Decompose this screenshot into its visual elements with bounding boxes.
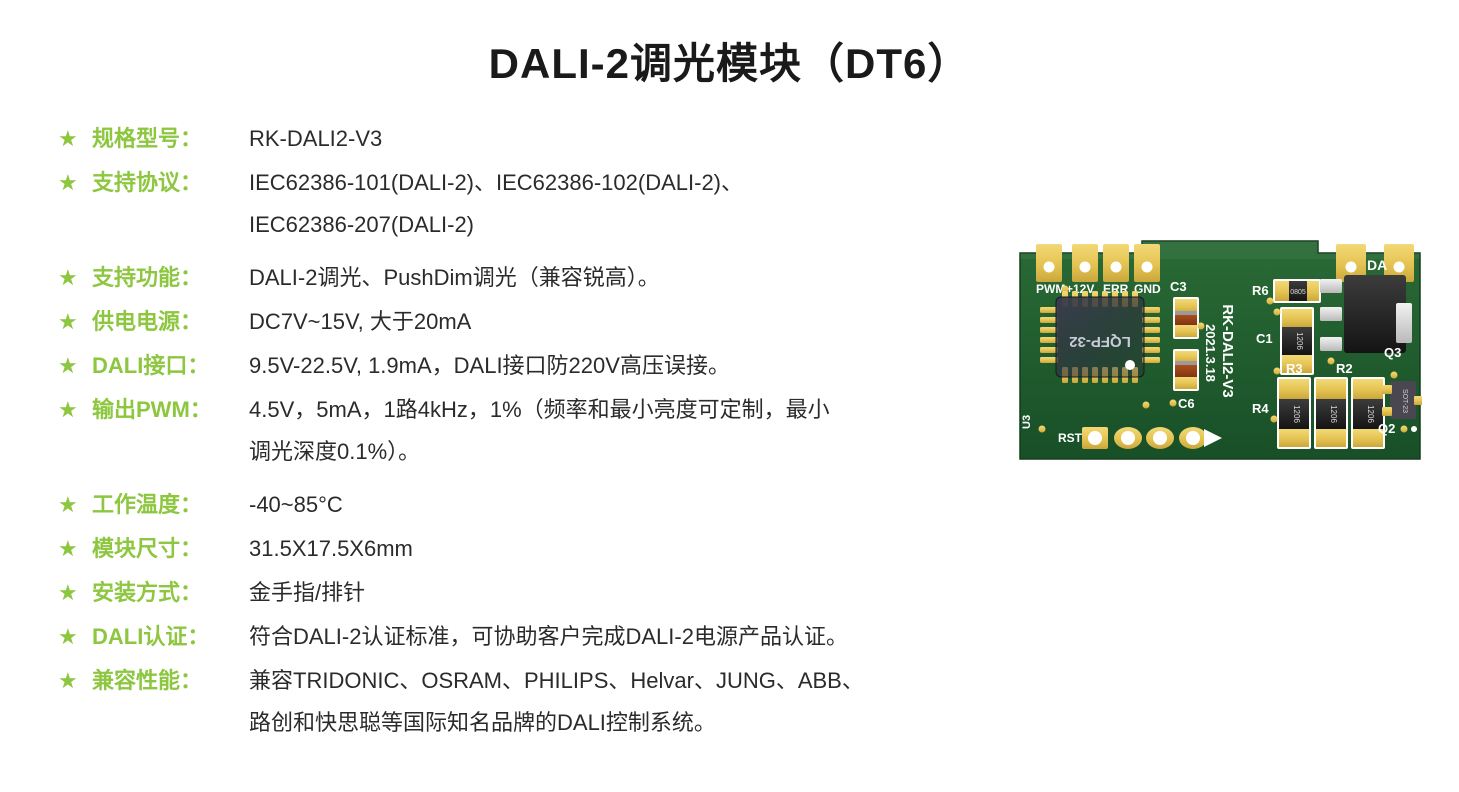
- via: [1143, 402, 1150, 409]
- pcb-silkscreen-part-number: RK-DALI2-V3: [1219, 304, 1236, 397]
- pcb-designator-q2: Q2: [1378, 421, 1395, 436]
- pcb-designator-r4: R4: [1252, 401, 1269, 416]
- via: [1274, 368, 1281, 375]
- spec-row: ★ DALI认证： 符合DALI-2认证标准，可协助客户完成DALI-2电源产品…: [55, 620, 955, 654]
- spec-value: 兼容TRIDONIC、OSRAM、PHILIPS、Helvar、JUNG、ABB…: [249, 664, 955, 740]
- pcb-designator-u3: U3: [1021, 415, 1033, 429]
- via: [1328, 358, 1335, 365]
- spec-label: 模块尺寸：: [92, 532, 249, 566]
- spec-label: 规格型号：: [92, 122, 249, 156]
- star-bullet-icon: ★: [55, 488, 92, 522]
- spec-value-line: DC7V~15V, 大于20mA: [249, 305, 955, 339]
- star-bullet-icon: ★: [55, 620, 92, 654]
- spec-value: 31.5X17.5X6mm: [249, 532, 955, 566]
- via: [1271, 416, 1278, 423]
- pcb-pad-label-pwm: PWM: [1036, 282, 1065, 296]
- spec-label: DALI认证：: [92, 620, 249, 654]
- via: [1267, 298, 1274, 305]
- star-bullet-icon: ★: [55, 122, 92, 156]
- pcb-pad-label-da: DA: [1367, 257, 1387, 273]
- via: [1401, 426, 1408, 433]
- spec-value-line: 符合DALI-2认证标准，可协助客户完成DALI-2电源产品认证。: [249, 620, 955, 654]
- spec-value-line: 9.5V-22.5V, 1.9mA，DALI接口防220V高压误接。: [249, 349, 955, 383]
- spec-row: ★ 安装方式： 金手指/排针: [55, 576, 955, 610]
- pcb-component-r3: 1206: [1314, 377, 1348, 449]
- spec-value-line: 4.5V，5mA，1路4kHz，1%（频率和最小亮度可定制，最小: [249, 393, 955, 427]
- spec-value: DC7V~15V, 大于20mA: [249, 305, 955, 339]
- pcb-designator-rst: RST: [1058, 431, 1083, 445]
- spec-row: ★ 输出PWM： 4.5V，5mA，1路4kHz，1%（频率和最小亮度可定制，最…: [55, 393, 955, 469]
- spec-row: ★ DALI接口： 9.5V-22.5V, 1.9mA，DALI接口防220V高…: [55, 349, 955, 383]
- spec-value-line: IEC62386-207(DALI-2): [249, 208, 955, 242]
- pcb-component-q3: [1344, 275, 1412, 353]
- spec-value: DALI-2调光、PushDim调光（兼容锐高）。: [249, 261, 955, 295]
- spec-row: ★ 供电电源： DC7V~15V, 大于20mA: [55, 305, 955, 339]
- pcb-chip-marking: LQFP-32: [1069, 333, 1131, 350]
- spec-value: 9.5V-22.5V, 1.9mA，DALI接口防220V高压误接。: [249, 349, 955, 383]
- spec-value-line: IEC62386-101(DALI-2)、IEC62386-102(DALI-2…: [249, 166, 955, 200]
- pcb-component-r6: 0805: [1273, 279, 1321, 303]
- star-bullet-icon: ★: [55, 166, 92, 200]
- star-bullet-icon: ★: [55, 261, 92, 295]
- pcb-pad-label-12v: +12V: [1066, 282, 1094, 296]
- via: [1039, 426, 1046, 433]
- page-title: DALI-2调光模块（DT6）: [0, 30, 1459, 91]
- star-bullet-icon: ★: [55, 576, 92, 610]
- pcb-code-1206: 1206: [1295, 332, 1304, 350]
- spec-value-line: -40~85°C: [249, 488, 955, 522]
- pcb-edge-pads-left: [1036, 244, 1160, 282]
- pcb-chip-lqfp32: LQFP-32: [1040, 291, 1160, 383]
- pcb-code-1206: 1206: [1329, 405, 1338, 423]
- spec-value-line: 31.5X17.5X6mm: [249, 532, 955, 566]
- spec-value-line: DALI-2调光、PushDim调光（兼容锐高）。: [249, 261, 955, 295]
- spec-label: 工作温度：: [92, 488, 249, 522]
- pcb-component-c3: [1173, 297, 1199, 339]
- pcb-designator-c6: C6: [1178, 396, 1195, 411]
- spec-label: 兼容性能：: [92, 664, 249, 698]
- spec-row: ★ 规格型号： RK-DALI2-V3: [55, 122, 955, 156]
- spec-value: 4.5V，5mA，1路4kHz，1%（频率和最小亮度可定制，最小 调光深度0.1…: [249, 393, 955, 469]
- star-bullet-icon: ★: [55, 532, 92, 566]
- spec-label: 支持功能：: [92, 261, 249, 295]
- spec-value-line: RK-DALI2-V3: [249, 122, 955, 156]
- spec-row: ★ 支持功能： DALI-2调光、PushDim调光（兼容锐高）。: [55, 261, 955, 295]
- spec-label: 供电电源：: [92, 305, 249, 339]
- spec-value: -40~85°C: [249, 488, 955, 522]
- spec-value-line: 兼容TRIDONIC、OSRAM、PHILIPS、Helvar、JUNG、ABB…: [249, 664, 955, 698]
- pcb-illustration: PWM +12V ERR GND DA: [1018, 233, 1422, 461]
- pcb-component-r4: 1206: [1277, 377, 1311, 449]
- star-bullet-icon: ★: [55, 349, 92, 383]
- spec-row: ★ 工作温度： -40~85°C: [55, 488, 955, 522]
- pcb-silkscreen-date-code: 2021.3.18: [1203, 324, 1218, 382]
- spec-row: ★ 支持协议： IEC62386-101(DALI-2)、IEC62386-10…: [55, 166, 955, 242]
- star-bullet-icon: ★: [55, 393, 92, 427]
- product-spec-sheet: DALI-2调光模块（DT6） ★ 规格型号： RK-DALI2-V3 ★ 支持…: [0, 0, 1459, 792]
- via: [1391, 372, 1398, 379]
- pcb-designator-r6: R6: [1252, 283, 1269, 298]
- pcb-designator-q3: Q3: [1384, 345, 1401, 360]
- specification-list: ★ 规格型号： RK-DALI2-V3 ★ 支持协议： IEC62386-101…: [55, 122, 955, 750]
- pcb-pad-label-gnd: GND: [1134, 282, 1161, 296]
- via: [1170, 400, 1177, 407]
- spec-value: RK-DALI2-V3: [249, 122, 955, 156]
- spec-value-line: 调光深度0.1%）。: [249, 435, 955, 469]
- pcb-designator-r2: R2: [1336, 361, 1353, 376]
- pcb-ic-pads: [1320, 279, 1342, 351]
- pcb-code-1206: 1206: [1366, 405, 1375, 423]
- spec-label: 支持协议：: [92, 166, 249, 200]
- star-bullet-icon: ★: [55, 305, 92, 339]
- star-bullet-icon: ★: [55, 664, 92, 698]
- pcb-code-sot23: SOT-23: [1401, 389, 1408, 413]
- pcb-code-1206: 1206: [1292, 405, 1301, 423]
- spec-row: ★ 兼容性能： 兼容TRIDONIC、OSRAM、PHILIPS、Helvar、…: [55, 664, 955, 740]
- spec-value-line: 路创和快思聪等国际知名品牌的DALI控制系统。: [249, 706, 955, 740]
- spec-label: DALI接口：: [92, 349, 249, 383]
- via: [1274, 309, 1281, 316]
- spec-value: 符合DALI-2认证标准，可协助客户完成DALI-2电源产品认证。: [249, 620, 955, 654]
- spec-label: 输出PWM：: [92, 393, 249, 427]
- pcb-component-c6: [1173, 349, 1199, 391]
- spec-label: 安装方式：: [92, 576, 249, 610]
- pcb-code-0805: 0805: [1290, 289, 1306, 296]
- spec-value: IEC62386-101(DALI-2)、IEC62386-102(DALI-2…: [249, 166, 955, 242]
- pcb-designator-c3: C3: [1170, 279, 1187, 294]
- pcb-designator-c1: C1: [1256, 331, 1273, 346]
- spec-value: 金手指/排针: [249, 576, 955, 610]
- pcb-component-r2: 1206: [1351, 377, 1385, 449]
- via: [1411, 426, 1417, 432]
- pcb-test-points: [1082, 427, 1222, 449]
- pcb-product-image: PWM +12V ERR GND DA: [1018, 233, 1422, 461]
- spec-row: ★ 模块尺寸： 31.5X17.5X6mm: [55, 532, 955, 566]
- spec-value-line: 金手指/排针: [249, 576, 955, 610]
- pcb-designator-r3: R3: [1286, 361, 1303, 376]
